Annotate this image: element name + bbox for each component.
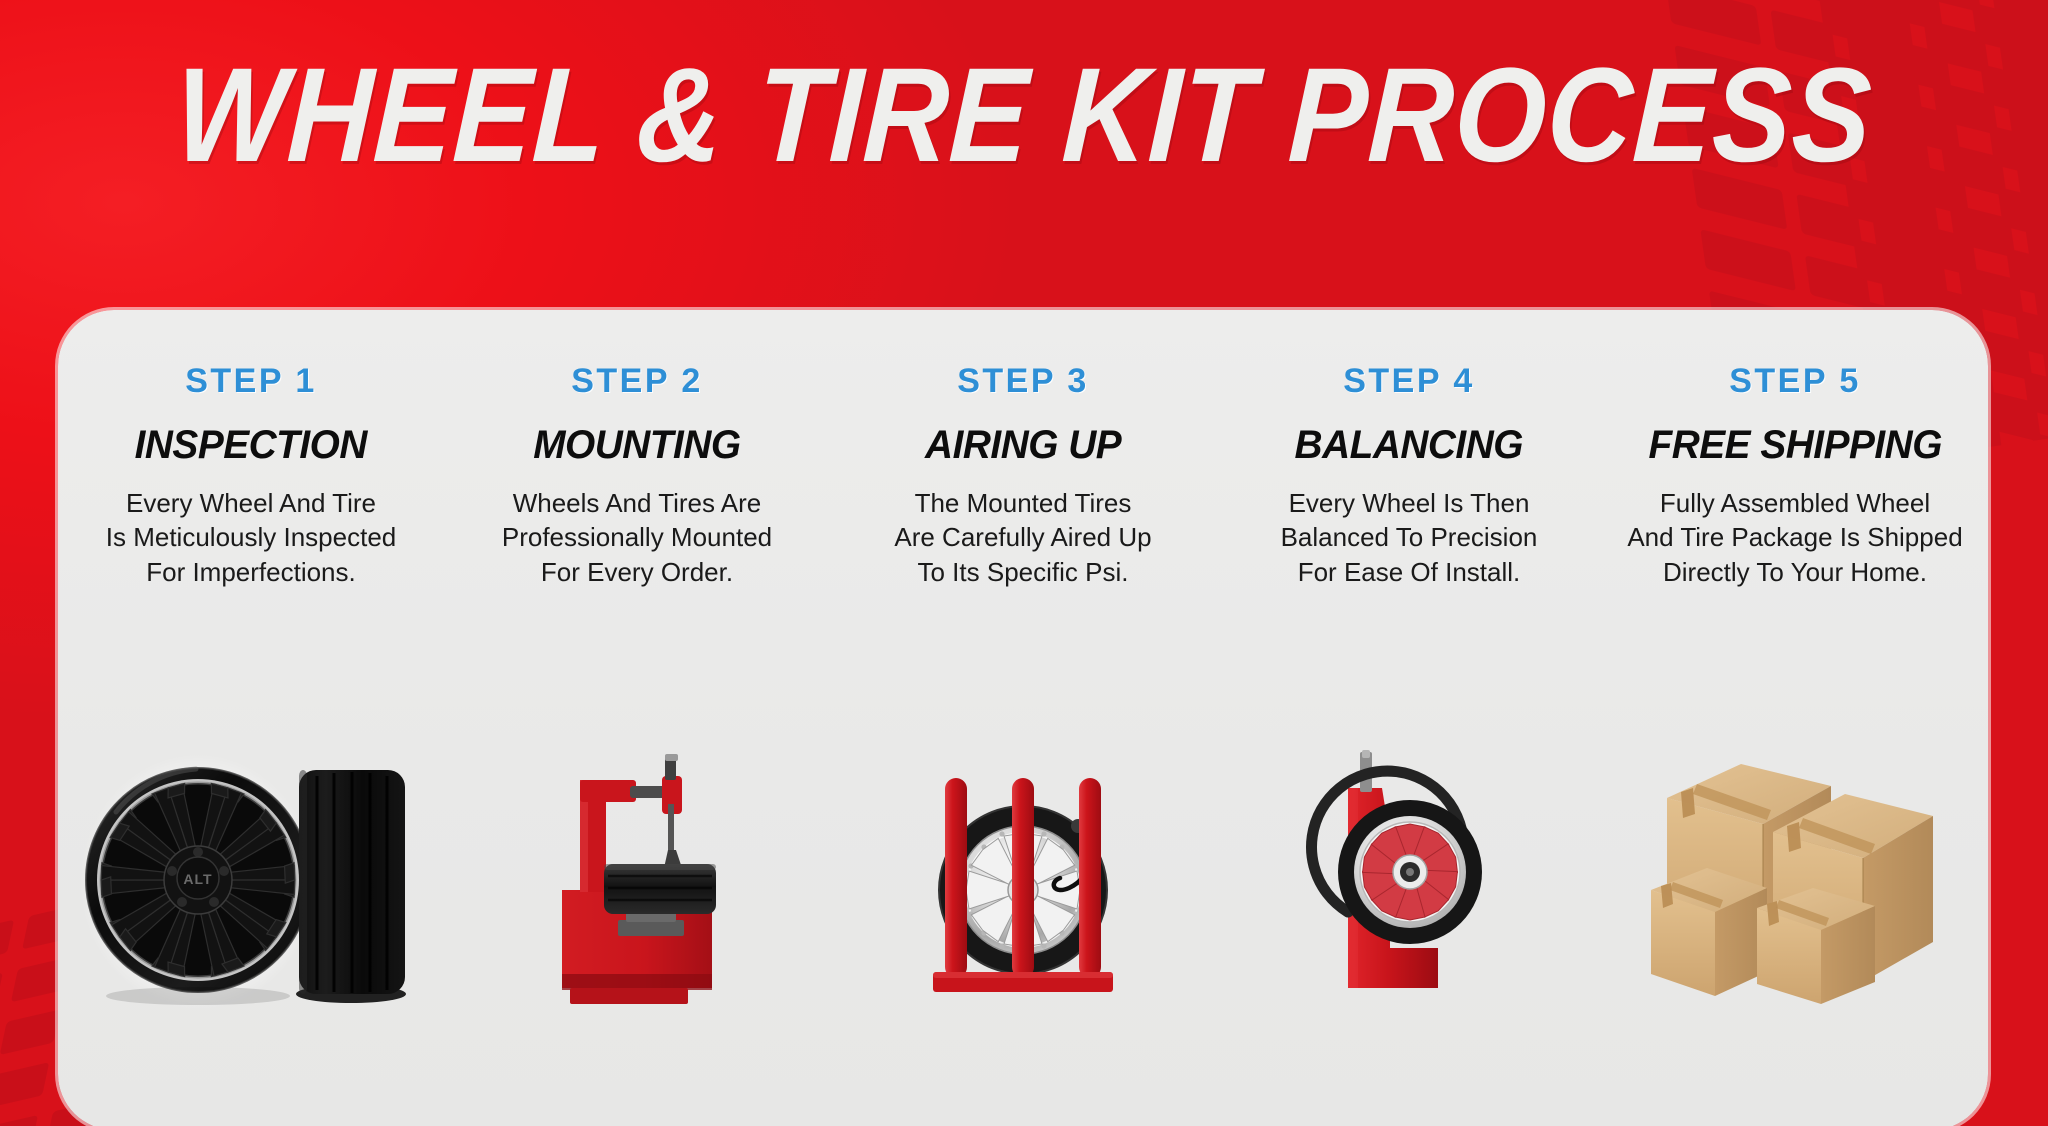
- step-description-1: Every Wheel And Tire Is Meticulously Ins…: [106, 486, 396, 589]
- step-description-line: Fully Assembled Wheel: [1627, 486, 1962, 520]
- step-number-1: STEP 1: [185, 362, 317, 401]
- shipping-box-front-left: [1651, 868, 1767, 996]
- step-illustration-2: [444, 740, 830, 1010]
- wheel-center-cap-label: ALT: [183, 871, 212, 887]
- step-item-4: STEP 4 BALANCING Every Wheel Is Then Bal…: [1216, 310, 1602, 1126]
- tire-graphic: [296, 770, 406, 1003]
- step-description-3: The Mounted Tires Are Carefully Aired Up…: [894, 486, 1151, 589]
- step-description-line: Directly To Your Home.: [1627, 555, 1962, 589]
- step-description-line: Every Wheel Is Then: [1281, 486, 1538, 520]
- step-number-4: STEP 4: [1343, 362, 1475, 401]
- step-number-2: STEP 2: [571, 362, 703, 401]
- wheel-and-tire-icon: ALT: [86, 742, 416, 1010]
- step-description-line: Is Meticulously Inspected: [106, 520, 396, 554]
- step-description-2: Wheels And Tires Are Professionally Moun…: [502, 486, 772, 589]
- step-illustration-1: ALT: [58, 740, 444, 1010]
- step-illustration-5: [1602, 740, 1988, 1010]
- step-number-3: STEP 3: [957, 362, 1089, 401]
- shipping-box-front-right: [1757, 888, 1875, 1004]
- page-title: WHEEL & TIRE KIT PROCESS: [0, 48, 2048, 185]
- step-description-4: Every Wheel Is Then Balanced To Precisio…: [1281, 486, 1538, 589]
- step-title-2: MOUNTING: [533, 423, 740, 468]
- cage-post: [1012, 778, 1034, 978]
- cage-post: [945, 778, 967, 978]
- step-description-line: Every Wheel And Tire: [106, 486, 396, 520]
- step-item-2: STEP 2 MOUNTING Wheels And Tires Are Pro…: [444, 310, 830, 1126]
- step-title-3: AIRING UP: [925, 423, 1121, 468]
- step-item-1: STEP 1 INSPECTION Every Wheel And Tire I…: [58, 310, 444, 1126]
- wheel-balancer-icon: [1304, 742, 1514, 1010]
- step-description-line: Balanced To Precision: [1281, 520, 1538, 554]
- step-description-line: For Every Order.: [502, 555, 772, 589]
- page-title-text: WHEEL & TIRE KIT PROCESS: [173, 48, 1875, 185]
- step-description-line: Are Carefully Aired Up: [894, 520, 1151, 554]
- inflation-cage-icon: [923, 742, 1123, 1010]
- step-description-line: For Ease Of Install.: [1281, 555, 1538, 589]
- step-title-5: FREE SHIPPING: [1648, 423, 1941, 468]
- step-number-5: STEP 5: [1729, 362, 1861, 401]
- cage-post: [1079, 778, 1101, 978]
- step-title-1: INSPECTION: [135, 423, 367, 468]
- step-description-line: The Mounted Tires: [894, 486, 1151, 520]
- step-description-line: And Tire Package Is Shipped: [1627, 520, 1962, 554]
- balanced-wheel-graphic: [1338, 800, 1482, 944]
- step-item-5: STEP 5 FREE SHIPPING Fully Assembled Whe…: [1602, 310, 1988, 1126]
- step-title-4: BALANCING: [1295, 423, 1523, 468]
- step-description-line: To Its Specific Psi.: [894, 555, 1151, 589]
- steps-container: STEP 1 INSPECTION Every Wheel And Tire I…: [58, 310, 1988, 1126]
- step-description-line: Wheels And Tires Are: [502, 486, 772, 520]
- shipping-boxes-icon: [1645, 742, 1945, 1010]
- step-item-3: STEP 3 AIRING UP The Mounted Tires Are C…: [830, 310, 1216, 1126]
- step-description-line: Professionally Mounted: [502, 520, 772, 554]
- tire-mounting-machine-icon: [542, 742, 732, 1010]
- step-description-line: For Imperfections.: [106, 555, 396, 589]
- step-description-5: Fully Assembled Wheel And Tire Package I…: [1627, 486, 1962, 589]
- step-illustration-4: [1216, 740, 1602, 1010]
- wheel-graphic: ALT: [86, 768, 310, 992]
- step-illustration-3: [830, 740, 1216, 1010]
